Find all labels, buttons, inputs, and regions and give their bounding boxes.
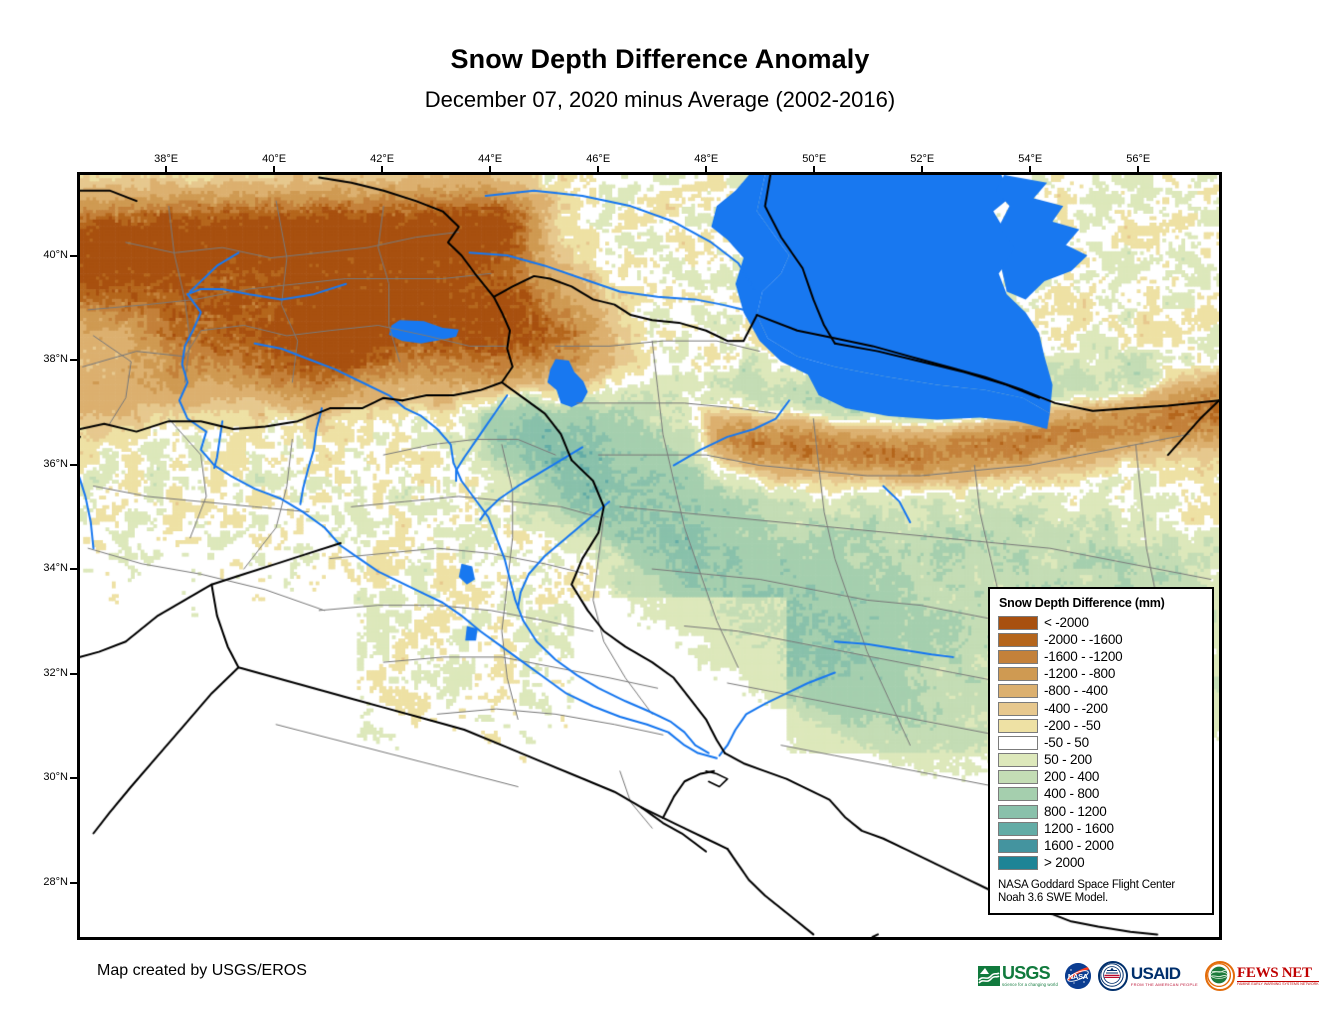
lon-tick-mark <box>705 166 707 175</box>
usgs-logo-tagline: science for a changing world <box>1002 982 1058 987</box>
legend-label: 800 - 1200 <box>1044 805 1107 819</box>
legend-swatch <box>998 684 1038 698</box>
legend-swatch <box>998 633 1038 647</box>
legend-label: -2000 - -1600 <box>1044 633 1122 647</box>
legend-row: 50 - 200 <box>998 752 1204 769</box>
lat-tick-label: 38°N <box>8 353 68 365</box>
legend-row: 800 - 1200 <box>998 803 1204 820</box>
lon-tick-label: 42°E <box>352 153 412 165</box>
lon-tick-label: 38°E <box>136 153 196 165</box>
page-subtitle: December 07, 2020 minus Average (2002-20… <box>0 87 1320 113</box>
lon-tick-mark <box>489 166 491 175</box>
map-legend: Snow Depth Difference (mm) < -2000-2000 … <box>988 587 1214 915</box>
legend-swatch <box>998 736 1038 750</box>
lon-tick-label: 50°E <box>784 153 844 165</box>
fews-net-logo[interactable]: FEWS NET FAMINE EARLY WARNING SYSTEMS NE… <box>1205 959 1319 993</box>
fews-logo-text: FEWS NET <box>1237 966 1319 981</box>
page-title: Snow Depth Difference Anomaly <box>0 44 1320 75</box>
lat-tick-mark <box>70 882 80 884</box>
lon-tick-mark <box>1029 166 1031 175</box>
nasa-meatball-icon: NASA <box>1065 963 1091 989</box>
lon-tick-mark <box>381 166 383 175</box>
usaid-seal-icon <box>1098 961 1128 991</box>
legend-swatch <box>998 787 1038 801</box>
lon-tick-label: 44°E <box>460 153 520 165</box>
legend-swatch <box>998 805 1038 819</box>
lon-tick-label: 48°E <box>676 153 736 165</box>
legend-label: -50 - 50 <box>1044 736 1089 750</box>
legend-row: > 2000 <box>998 855 1204 872</box>
footer-credit: Map created by USGS/EROS <box>97 962 307 980</box>
lat-tick-mark <box>70 255 80 257</box>
legend-label: -1600 - -1200 <box>1044 650 1122 664</box>
legend-row: 200 - 400 <box>998 769 1204 786</box>
legend-row: -200 - -50 <box>998 717 1204 734</box>
legend-row: -1600 - -1200 <box>998 648 1204 665</box>
legend-swatch <box>998 719 1038 733</box>
legend-row: -50 - 50 <box>998 734 1204 751</box>
usaid-logo-text: USAID <box>1131 966 1198 982</box>
lon-tick-label: 54°E <box>1000 153 1060 165</box>
legend-swatch <box>998 616 1038 630</box>
legend-note: NASA Goddard Space Flight Center Noah 3.… <box>998 879 1204 906</box>
legend-row: -2000 - -1600 <box>998 631 1204 648</box>
legend-swatch <box>998 856 1038 870</box>
legend-items: < -2000-2000 - -1600-1600 - -1200-1200 -… <box>998 614 1204 872</box>
legend-label: -800 - -400 <box>1044 684 1108 698</box>
legend-swatch <box>998 770 1038 784</box>
legend-row: -400 - -200 <box>998 700 1204 717</box>
lon-tick-mark <box>597 166 599 175</box>
legend-row: 1200 - 1600 <box>998 820 1204 837</box>
legend-label: 1200 - 1600 <box>1044 822 1114 836</box>
lon-tick-mark <box>165 166 167 175</box>
legend-label: -1200 - -800 <box>1044 667 1115 681</box>
lat-tick-label: 32°N <box>8 667 68 679</box>
lat-tick-mark <box>70 359 80 361</box>
lat-tick-mark <box>70 568 80 570</box>
usgs-logo-text: USGS <box>1002 965 1058 982</box>
fews-globe-icon <box>1205 961 1235 991</box>
usaid-logo-tagline: FROM THE AMERICAN PEOPLE <box>1131 982 1198 987</box>
legend-note-line1: NASA Goddard Space Flight Center <box>998 879 1204 893</box>
legend-row: < -2000 <box>998 614 1204 631</box>
lon-tick-label: 56°E <box>1108 153 1168 165</box>
lat-tick-label: 34°N <box>8 562 68 574</box>
legend-title: Snow Depth Difference (mm) <box>999 596 1204 610</box>
legend-row: 400 - 800 <box>998 786 1204 803</box>
nasa-logo-text: NASA <box>1068 972 1088 981</box>
legend-swatch <box>998 667 1038 681</box>
lat-tick-label: 30°N <box>8 771 68 783</box>
legend-note-line2: Noah 3.6 SWE Model. <box>998 892 1204 906</box>
legend-row: 1600 - 2000 <box>998 837 1204 854</box>
lon-tick-mark <box>813 166 815 175</box>
legend-label: > 2000 <box>1044 856 1084 870</box>
usgs-logo[interactable]: USGS science for a changing world <box>978 959 1058 993</box>
lat-tick-label: 40°N <box>8 249 68 261</box>
lat-tick-label: 28°N <box>8 876 68 888</box>
lon-tick-label: 52°E <box>892 153 952 165</box>
legend-swatch <box>998 822 1038 836</box>
lon-tick-label: 46°E <box>568 153 628 165</box>
fews-logo-tagline: FAMINE EARLY WARNING SYSTEMS NETWORK <box>1237 982 1319 987</box>
legend-swatch <box>998 702 1038 716</box>
lat-tick-mark <box>70 464 80 466</box>
lon-tick-label: 40°E <box>244 153 304 165</box>
lon-tick-mark <box>1137 166 1139 175</box>
logo-bar: USGS science for a changing world NASA <box>978 957 1319 995</box>
legend-label: 50 - 200 <box>1044 753 1092 767</box>
lat-tick-mark <box>70 777 80 779</box>
nasa-logo[interactable]: NASA <box>1065 959 1091 993</box>
legend-label: -400 - -200 <box>1044 702 1108 716</box>
legend-label: < -2000 <box>1044 616 1089 630</box>
legend-swatch <box>998 650 1038 664</box>
lat-tick-mark <box>70 673 80 675</box>
lat-tick-label: 36°N <box>8 458 68 470</box>
legend-row: -800 - -400 <box>998 683 1204 700</box>
legend-label: 200 - 400 <box>1044 770 1099 784</box>
legend-label: 1600 - 2000 <box>1044 839 1114 853</box>
lon-tick-mark <box>273 166 275 175</box>
legend-label: -200 - -50 <box>1044 719 1101 733</box>
legend-label: 400 - 800 <box>1044 787 1099 801</box>
lon-tick-mark <box>921 166 923 175</box>
legend-row: -1200 - -800 <box>998 666 1204 683</box>
legend-swatch <box>998 753 1038 767</box>
legend-swatch <box>998 839 1038 853</box>
usgs-wave-icon <box>978 966 1000 986</box>
usaid-logo[interactable]: USAID FROM THE AMERICAN PEOPLE <box>1098 959 1198 993</box>
